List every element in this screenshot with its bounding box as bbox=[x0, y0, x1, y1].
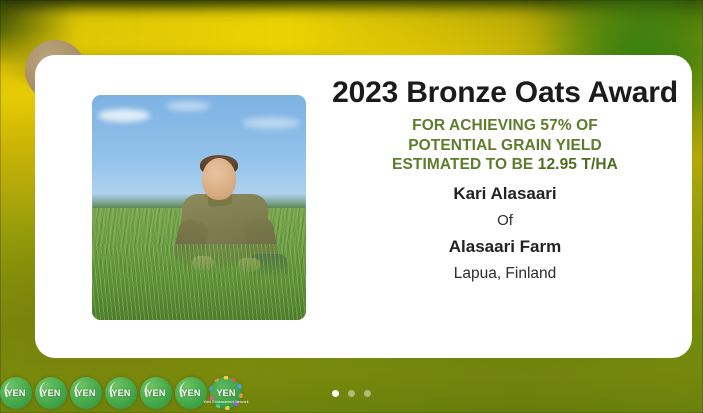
award-card[interactable]: 2023 Bronze Oats Award FOR ACHIEVING 57%… bbox=[35, 55, 692, 358]
recipient-name: Kari Alasaari bbox=[330, 184, 680, 204]
subtitle-line-3-prefix: ESTIMATED TO BE bbox=[392, 156, 538, 173]
cloud-icon bbox=[98, 109, 150, 122]
subtitle-line-1: FOR ACHIEVING 57% OF bbox=[330, 116, 680, 136]
cloud-icon bbox=[166, 101, 210, 111]
carousel-dot-1[interactable] bbox=[332, 390, 339, 397]
subtitle-line-2: POTENTIAL GRAIN YIELD bbox=[330, 136, 680, 156]
award-title: 2023 Bronze Oats Award bbox=[330, 77, 680, 109]
yield-value: 12.95 T/HA bbox=[538, 156, 618, 173]
farm-name: Alasaari Farm bbox=[330, 237, 680, 257]
screenshot-root: 2023 Bronze Oats Award FOR ACHIEVING 57%… bbox=[0, 0, 703, 413]
farm-location: Lapua, Finland bbox=[330, 265, 680, 283]
farmer-photo bbox=[92, 95, 306, 320]
award-text-block: 2023 Bronze Oats Award FOR ACHIEVING 57%… bbox=[330, 77, 680, 283]
carousel-dots bbox=[0, 390, 703, 397]
subtitle-line-3: ESTIMATED TO BE 12.95 T/HA bbox=[330, 155, 680, 175]
of-connector-word: Of bbox=[330, 212, 680, 229]
person-head bbox=[202, 158, 236, 200]
carousel-dot-3[interactable] bbox=[364, 390, 371, 397]
carousel-dot-2[interactable] bbox=[348, 390, 355, 397]
award-subtitle: FOR ACHIEVING 57% OF POTENTIAL GRAIN YIE… bbox=[330, 116, 680, 175]
photo-foreground-crop bbox=[92, 244, 306, 321]
cloud-icon bbox=[242, 117, 300, 129]
yen-badge-sublabel: Yield Enhancement Network bbox=[203, 400, 248, 404]
